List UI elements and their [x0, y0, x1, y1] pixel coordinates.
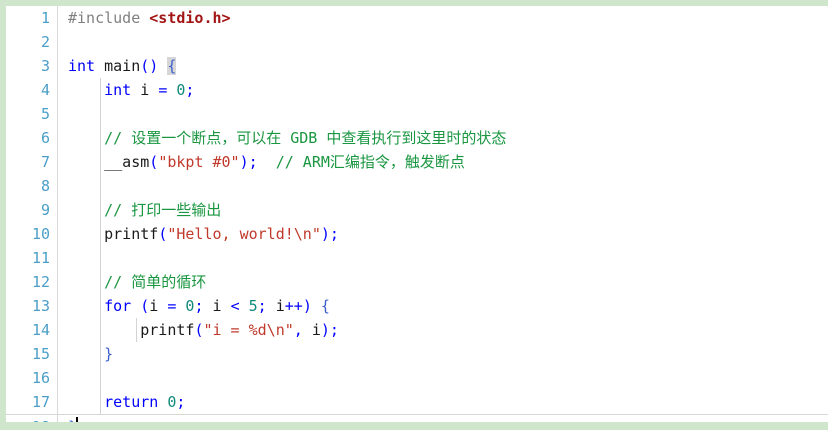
- token-identifier: i: [140, 81, 149, 99]
- token-space: [95, 57, 104, 75]
- token-space: [131, 81, 140, 99]
- token-indent: [68, 321, 140, 339]
- token-comment: // 打印一些输出: [104, 201, 221, 219]
- token-keyword: int: [104, 81, 131, 99]
- token-space: [240, 297, 249, 315]
- line-number: 15: [6, 342, 50, 366]
- line-content[interactable]: }: [68, 342, 113, 366]
- code-line[interactable]: 7 __asm("bkpt #0"); // ARM汇编指令，触发断点: [6, 150, 828, 174]
- gutter-separator: [57, 222, 58, 246]
- line-number: 8: [6, 174, 50, 198]
- code-line-current[interactable]: 18 }: [6, 414, 828, 422]
- line-number: 2: [6, 30, 50, 54]
- token-indent: [68, 225, 104, 243]
- token-space: [149, 81, 158, 99]
- token-string: "i = %d\n": [203, 321, 293, 339]
- token-function-call: printf: [104, 225, 158, 243]
- line-number: 12: [6, 270, 50, 294]
- token-preprocessor: #include: [68, 9, 149, 27]
- token-parens: (): [140, 57, 158, 75]
- token-rparen: ): [321, 225, 330, 243]
- code-line[interactable]: 17 return 0;: [6, 390, 828, 414]
- line-content[interactable]: int i = 0;: [68, 78, 194, 102]
- code-area[interactable]: 1 #include <stdio.h> 2 3 int main() { 4: [6, 6, 828, 422]
- gutter-separator: [57, 342, 58, 366]
- token-semicolon: ;: [185, 81, 194, 99]
- token-space: [158, 393, 167, 411]
- token-rparen: ): [321, 321, 330, 339]
- token-keyword: return: [104, 393, 158, 411]
- line-content[interactable]: int main() {: [68, 54, 176, 78]
- code-line[interactable]: 10 printf("Hello, world!\n");: [6, 222, 828, 246]
- editor-surface[interactable]: 1 #include <stdio.h> 2 3 int main() { 4: [6, 6, 828, 422]
- gutter-separator: [57, 6, 58, 30]
- token-lparen: (: [140, 297, 149, 315]
- code-line[interactable]: 2: [6, 30, 828, 54]
- gutter-separator: [57, 102, 58, 126]
- line-number: 11: [6, 246, 50, 270]
- gutter-separator: [57, 294, 58, 318]
- code-line[interactable]: 12 // 简单的循环: [6, 270, 828, 294]
- line-number: 16: [6, 366, 50, 390]
- token-space: [131, 297, 140, 315]
- token-asm-keyword: __asm: [104, 153, 149, 171]
- token-operator: ++: [285, 297, 303, 315]
- token-function-name: main: [104, 57, 140, 75]
- token-indent: [68, 345, 104, 363]
- token-keyword: for: [104, 297, 131, 315]
- code-line[interactable]: 9 // 打印一些输出: [6, 198, 828, 222]
- token-semicolon: ;: [330, 225, 339, 243]
- gutter-separator: [57, 415, 58, 422]
- line-number: 14: [6, 318, 50, 342]
- line-content[interactable]: }: [68, 415, 78, 422]
- line-content[interactable]: // 简单的循环: [68, 270, 206, 294]
- token-brace: {: [321, 297, 330, 315]
- token-number: 5: [249, 297, 258, 315]
- gutter-separator: [57, 126, 58, 150]
- code-line[interactable]: 11: [6, 246, 828, 270]
- token-comma: ,: [294, 321, 303, 339]
- token-indent: [68, 297, 104, 315]
- token-string: "bkpt #0": [158, 153, 239, 171]
- token-indent: [68, 273, 104, 291]
- code-line[interactable]: 5: [6, 102, 828, 126]
- gutter-separator: [57, 246, 58, 270]
- token-rparen: ): [303, 297, 312, 315]
- token-indent: [68, 153, 104, 171]
- token-matched-brace: {: [167, 57, 176, 75]
- token-identifier: i: [149, 297, 158, 315]
- text-cursor: [76, 417, 78, 422]
- token-rparen: ): [240, 153, 249, 171]
- line-number: 1: [6, 6, 50, 30]
- line-number: 17: [6, 390, 50, 414]
- indent-guide: [100, 366, 101, 390]
- code-line[interactable]: 4 int i = 0;: [6, 78, 828, 102]
- token-identifier: i: [312, 321, 321, 339]
- token-operator: <: [231, 297, 240, 315]
- token-semicolon: ;: [258, 297, 267, 315]
- gutter-separator: [57, 78, 58, 102]
- line-number: 9: [6, 198, 50, 222]
- token-lparen: (: [149, 153, 158, 171]
- gutter-separator: [57, 54, 58, 78]
- code-line[interactable]: 1 #include <stdio.h>: [6, 6, 828, 30]
- line-number: 6: [6, 126, 50, 150]
- gutter-separator: [57, 390, 58, 414]
- code-line[interactable]: 13 for (i = 0; i < 5; i++) {: [6, 294, 828, 318]
- code-line[interactable]: 15 }: [6, 342, 828, 366]
- line-number: 10: [6, 222, 50, 246]
- line-content[interactable]: // 设置一个断点，可以在 GDB 中查看执行到这里时的状态: [68, 126, 506, 150]
- line-number: 4: [6, 78, 50, 102]
- token-comment: // 设置一个断点，可以在 GDB 中查看执行到这里时的状态: [104, 129, 506, 147]
- token-space: [158, 297, 167, 315]
- token-identifier: i: [213, 297, 222, 315]
- editor-window: 1 #include <stdio.h> 2 3 int main() { 4: [0, 0, 828, 430]
- token-semicolon: ;: [330, 321, 339, 339]
- line-number: 13: [6, 294, 50, 318]
- token-comment: // ARM汇编指令，触发断点: [276, 153, 465, 171]
- token-indent: [68, 129, 104, 147]
- token-semicolon: ;: [249, 153, 258, 171]
- line-content[interactable]: for (i = 0; i < 5; i++) {: [68, 294, 330, 318]
- token-brace: }: [104, 345, 113, 363]
- token-space: [312, 297, 321, 315]
- token-indent: [68, 81, 104, 99]
- token-space: [258, 153, 276, 171]
- gutter-separator: [57, 150, 58, 174]
- line-content[interactable]: __asm("bkpt #0"); // ARM汇编指令，触发断点: [68, 150, 465, 174]
- line-number: 7: [6, 150, 50, 174]
- code-line[interactable]: 6 // 设置一个断点，可以在 GDB 中查看执行到这里时的状态: [6, 126, 828, 150]
- code-line[interactable]: 8: [6, 174, 828, 198]
- line-content[interactable]: return 0;: [68, 390, 185, 414]
- gutter-separator: [57, 198, 58, 222]
- token-keyword: int: [68, 57, 95, 75]
- gutter-separator: [57, 174, 58, 198]
- gutter-separator: [57, 30, 58, 54]
- token-function-call: printf: [140, 321, 194, 339]
- token-identifier: i: [276, 297, 285, 315]
- token-semicolon: ;: [176, 393, 185, 411]
- line-number: 5: [6, 102, 50, 126]
- code-line[interactable]: 16: [6, 366, 828, 390]
- indent-guide: [100, 174, 101, 198]
- token-space: [158, 57, 167, 75]
- gutter-separator: [57, 366, 58, 390]
- token-comment: // 简单的循环: [104, 273, 206, 291]
- indent-guide: [100, 102, 101, 126]
- code-line[interactable]: 14 printf("i = %d\n", i);: [6, 318, 828, 342]
- gutter-separator: [57, 318, 58, 342]
- indent-guide: [100, 246, 101, 270]
- token-space: [303, 321, 312, 339]
- line-content[interactable]: #include <stdio.h>: [68, 6, 231, 30]
- token-space: [203, 297, 212, 315]
- token-space: [267, 297, 276, 315]
- gutter-separator: [57, 270, 58, 294]
- line-content[interactable]: // 打印一些输出: [68, 198, 221, 222]
- token-lparen: (: [158, 225, 167, 243]
- token-space: [222, 297, 231, 315]
- token-indent: [68, 201, 104, 219]
- line-number: 3: [6, 54, 50, 78]
- code-line[interactable]: 3 int main() {: [6, 54, 828, 78]
- line-number: 18: [6, 415, 50, 422]
- line-content[interactable]: printf("i = %d\n", i);: [68, 318, 339, 342]
- token-operator: =: [158, 81, 167, 99]
- token-header-name: <stdio.h>: [149, 9, 230, 27]
- token-indent: [68, 393, 104, 411]
- line-content[interactable]: printf("Hello, world!\n");: [68, 222, 339, 246]
- token-string: "Hello, world!\n": [167, 225, 321, 243]
